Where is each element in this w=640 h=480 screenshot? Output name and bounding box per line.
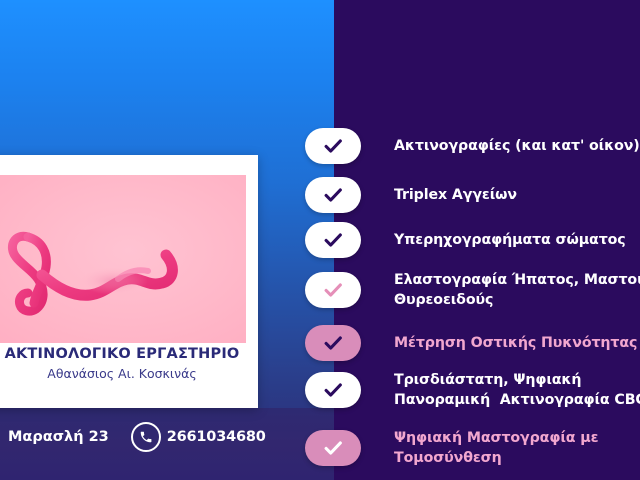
check-badge-0 — [305, 128, 361, 164]
check-badge-6 — [305, 430, 361, 466]
service-label-6: Ψηφιακή Μαστογραφία με Τομοσύνθεση — [394, 428, 598, 468]
check-icon — [322, 279, 344, 301]
check-icon — [322, 184, 344, 206]
service-label-0: Ακτινογραφίες (και κατ' οίκον) — [394, 136, 640, 156]
check-badge-2 — [305, 222, 361, 258]
poster-canvas: ΑΚΤΙΝΟΛΟΓΙΚΟ ΕΡΓΑΣΤΗΡΙΟ Αθανάσιος Αι. Κο… — [0, 0, 640, 480]
check-icon — [322, 437, 344, 459]
service-item-5[interactable]: Τρισδιάστατη, Ψηφιακή Πανοραμική Ακτινογ… — [305, 370, 640, 410]
service-label-2: Υπερηχογραφήματα σώματος — [394, 230, 626, 250]
service-item-1[interactable]: Triplex Αγγείων — [305, 177, 517, 213]
check-badge-5 — [305, 372, 361, 408]
service-label-1: Triplex Αγγείων — [394, 185, 517, 205]
service-label-4: Μέτρηση Οστικής Πυκνότητας — [394, 333, 637, 353]
service-item-4[interactable]: Μέτρηση Οστικής Πυκνότητας — [305, 325, 637, 361]
check-icon — [322, 379, 344, 401]
check-badge-1 — [305, 177, 361, 213]
service-label-5: Τρισδιάστατη, Ψηφιακή Πανοραμική Ακτινογ… — [394, 370, 640, 410]
check-badge-3 — [305, 272, 361, 308]
service-item-3[interactable]: Ελαστογραφία Ήπατος, Μαστού, Θυρεοειδούς — [305, 270, 640, 310]
service-label-3: Ελαστογραφία Ήπατος, Μαστού, Θυρεοειδούς — [394, 270, 640, 310]
service-item-2[interactable]: Υπερηχογραφήματα σώματος — [305, 222, 626, 258]
service-item-0[interactable]: Ακτινογραφίες (και κατ' οίκον) — [305, 128, 640, 164]
check-icon — [322, 229, 344, 251]
check-badge-4 — [305, 325, 361, 361]
check-icon — [322, 135, 344, 157]
service-list: Ακτινογραφίες (και κατ' οίκον) Triplex Α… — [0, 0, 640, 480]
check-icon — [322, 332, 344, 354]
service-item-6[interactable]: Ψηφιακή Μαστογραφία με Τομοσύνθεση — [305, 428, 598, 468]
